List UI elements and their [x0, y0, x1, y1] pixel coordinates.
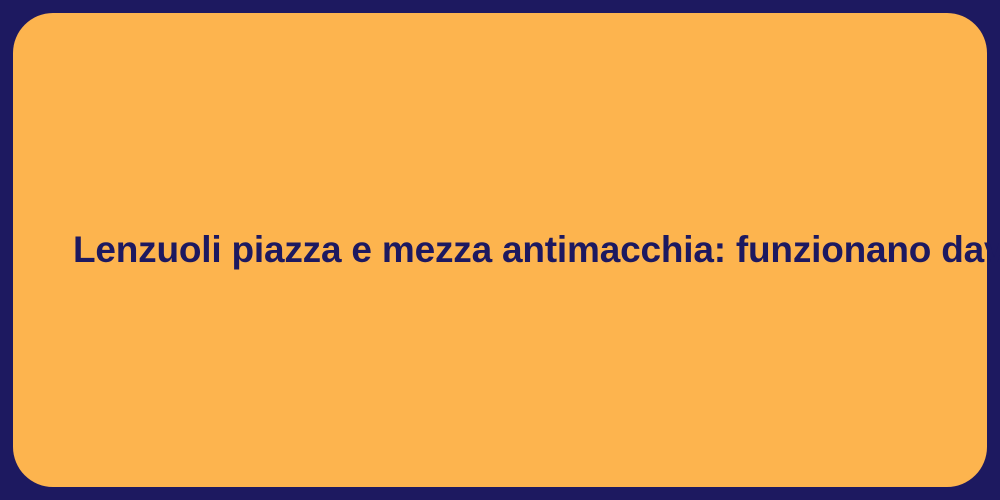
- banner-heading: Lenzuoli piazza e mezza antimacchia: fun…: [73, 228, 1000, 272]
- banner-panel: Lenzuoli piazza e mezza antimacchia: fun…: [13, 13, 987, 487]
- banner-frame: Lenzuoli piazza e mezza antimacchia: fun…: [0, 0, 1000, 500]
